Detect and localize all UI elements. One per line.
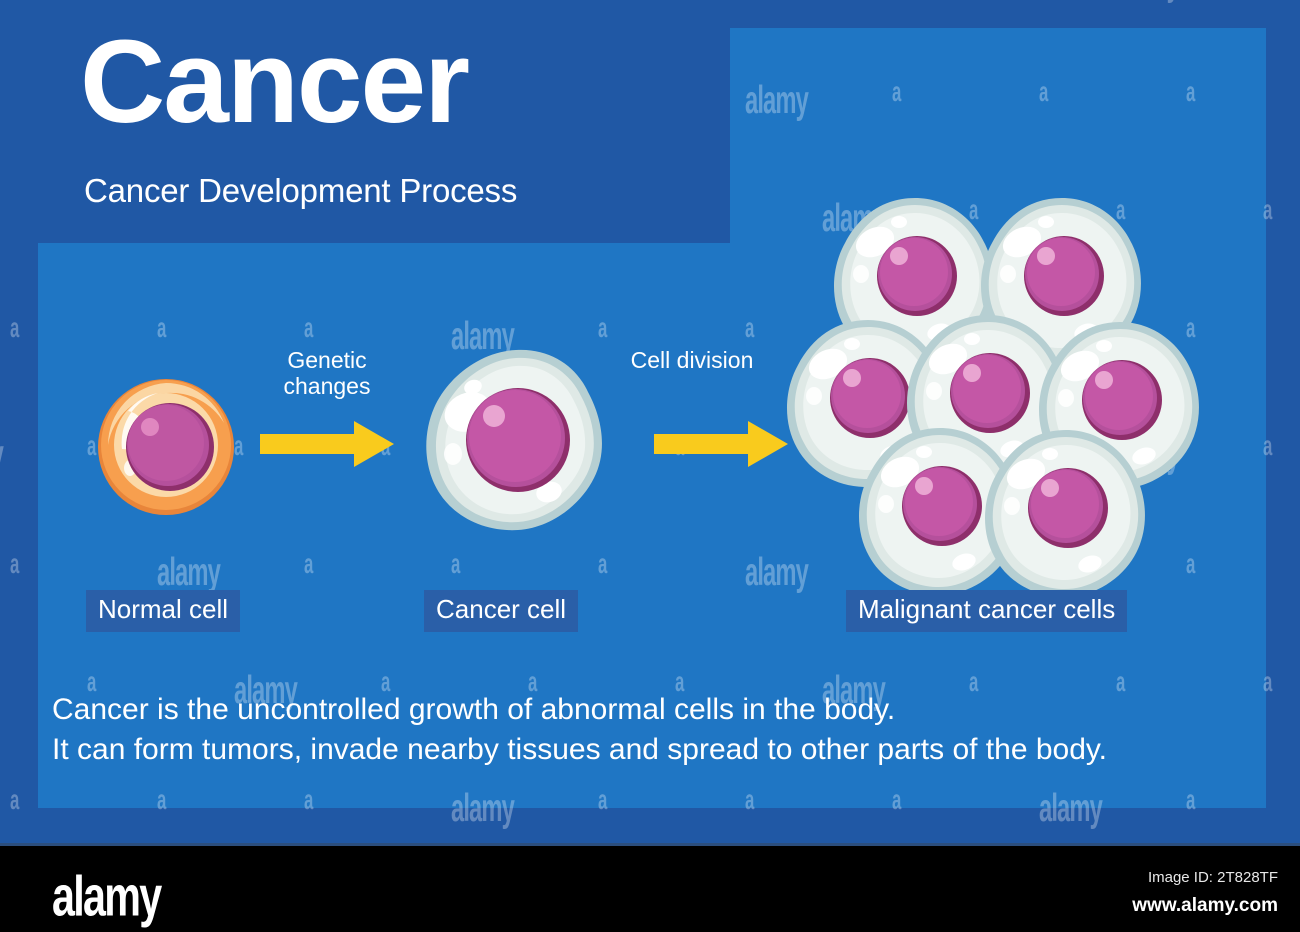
watermark-word: alamy (1116, 0, 1179, 5)
infographic-canvas: alamyaaaalamyaaaalamyaaaalamyaaaalamyaaa… (0, 0, 1300, 843)
malignant-cell-cluster-illustration (800, 188, 1210, 558)
stage-label-malignant-cells: Malignant cancer cells (846, 590, 1127, 632)
footer-divider (0, 843, 1300, 846)
alamy-logo: alamy (52, 865, 160, 930)
arrow-cell-division-icon (652, 420, 792, 470)
cancer-cell-illustration (416, 344, 616, 539)
watermark-letter: a (10, 786, 18, 818)
page-subtitle: Cancer Development Process (84, 172, 517, 210)
arrow-caption-cell-division: Cell division (602, 348, 782, 374)
stage-label-normal-cell: Normal cell (86, 590, 240, 632)
alamy-footer: alamy Image ID: 2T828TF www.alamy.com (0, 843, 1300, 932)
watermark-word: alamy (0, 432, 3, 477)
infographic-root: alamyaaaalamyaaaalamyaaaalamyaaaalamyaaa… (0, 0, 1300, 932)
watermark-letter: a (10, 314, 18, 346)
description-text: Cancer is the uncontrolled growth of abn… (52, 690, 1262, 769)
arrow-caption-genetic-changes: Genetic changes (252, 348, 402, 400)
image-id-text: Image ID: 2T828TF (1148, 869, 1278, 886)
normal-cell-illustration (88, 375, 248, 525)
watermark-letter: a (10, 550, 18, 582)
stage-label-cancer-cell: Cancer cell (424, 590, 578, 632)
page-title: Cancer (80, 22, 468, 142)
arrow-genetic-changes-icon (258, 420, 398, 470)
alamy-url-text[interactable]: www.alamy.com (1132, 895, 1278, 917)
